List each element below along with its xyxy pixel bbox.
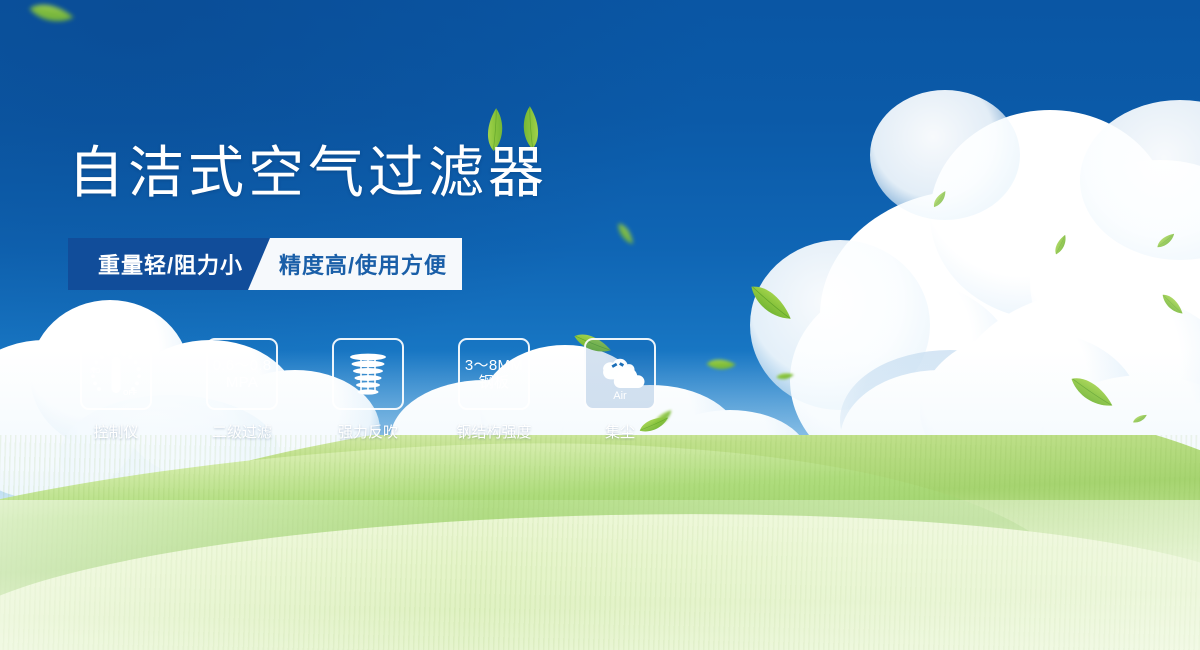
cloud-air-icon: Air bbox=[590, 345, 650, 403]
subtitle-right-text: 精度高/使用方便 bbox=[263, 248, 447, 280]
page-title: 自洁式空气过滤器 bbox=[68, 145, 548, 201]
grass-field bbox=[0, 435, 1200, 650]
air-caption: Air bbox=[613, 390, 627, 402]
filter-coil-icon bbox=[342, 348, 394, 400]
feature-list: NO OFF 控制仪 0.6～0.8 MPA 二级过滤 bbox=[80, 338, 656, 442]
feature-icon-box: 3～8MM 钢板 bbox=[458, 338, 530, 410]
steel-thickness: 3～8MM bbox=[465, 357, 523, 374]
product-banner: 自洁式空气过滤器 重量轻/阻力小 精度高/使用方便 bbox=[0, 0, 1200, 650]
feature-item-steel-strength[interactable]: 3～8MM 钢板 钢结构强度 bbox=[458, 338, 530, 442]
feature-label: 强力反吹 bbox=[338, 421, 398, 442]
steel-text-icon: 3～8MM 钢板 bbox=[465, 357, 523, 392]
feature-icon-box: 0.6～0.8 MPA bbox=[206, 338, 278, 410]
pressure-unit: MPA bbox=[213, 374, 272, 391]
svg-text:OFF: OFF bbox=[123, 390, 138, 397]
gauge-icon: NO OFF bbox=[87, 345, 145, 403]
pressure-value: 0.6～0.8 bbox=[213, 357, 272, 374]
feature-icon-box: Air bbox=[584, 338, 656, 410]
feature-item-secondary-filter[interactable]: 0.6～0.8 MPA 二级过滤 bbox=[206, 338, 278, 442]
feature-label: 二级过滤 bbox=[212, 421, 272, 442]
feature-icon-box bbox=[332, 338, 404, 410]
pressure-text-icon: 0.6～0.8 MPA bbox=[213, 357, 272, 392]
subtitle-left-panel: 重量轻/阻力小 bbox=[68, 238, 273, 290]
feature-icon-box: NO OFF bbox=[80, 338, 152, 410]
feature-label: 控制仪 bbox=[93, 421, 138, 442]
feature-label: 集尘 bbox=[605, 421, 635, 442]
subtitle-bar: 重量轻/阻力小 精度高/使用方便 bbox=[68, 238, 462, 290]
subtitle-left-text: 重量轻/阻力小 bbox=[98, 248, 243, 280]
feature-item-backblow[interactable]: 强力反吹 bbox=[332, 338, 404, 442]
steel-material: 钢板 bbox=[465, 374, 523, 391]
feature-label: 钢结构强度 bbox=[457, 421, 532, 442]
feature-item-controller[interactable]: NO OFF 控制仪 bbox=[80, 338, 152, 442]
subtitle-right-panel: 精度高/使用方便 bbox=[248, 238, 462, 290]
field-sheen bbox=[0, 500, 1200, 650]
svg-text:NO: NO bbox=[90, 368, 101, 375]
